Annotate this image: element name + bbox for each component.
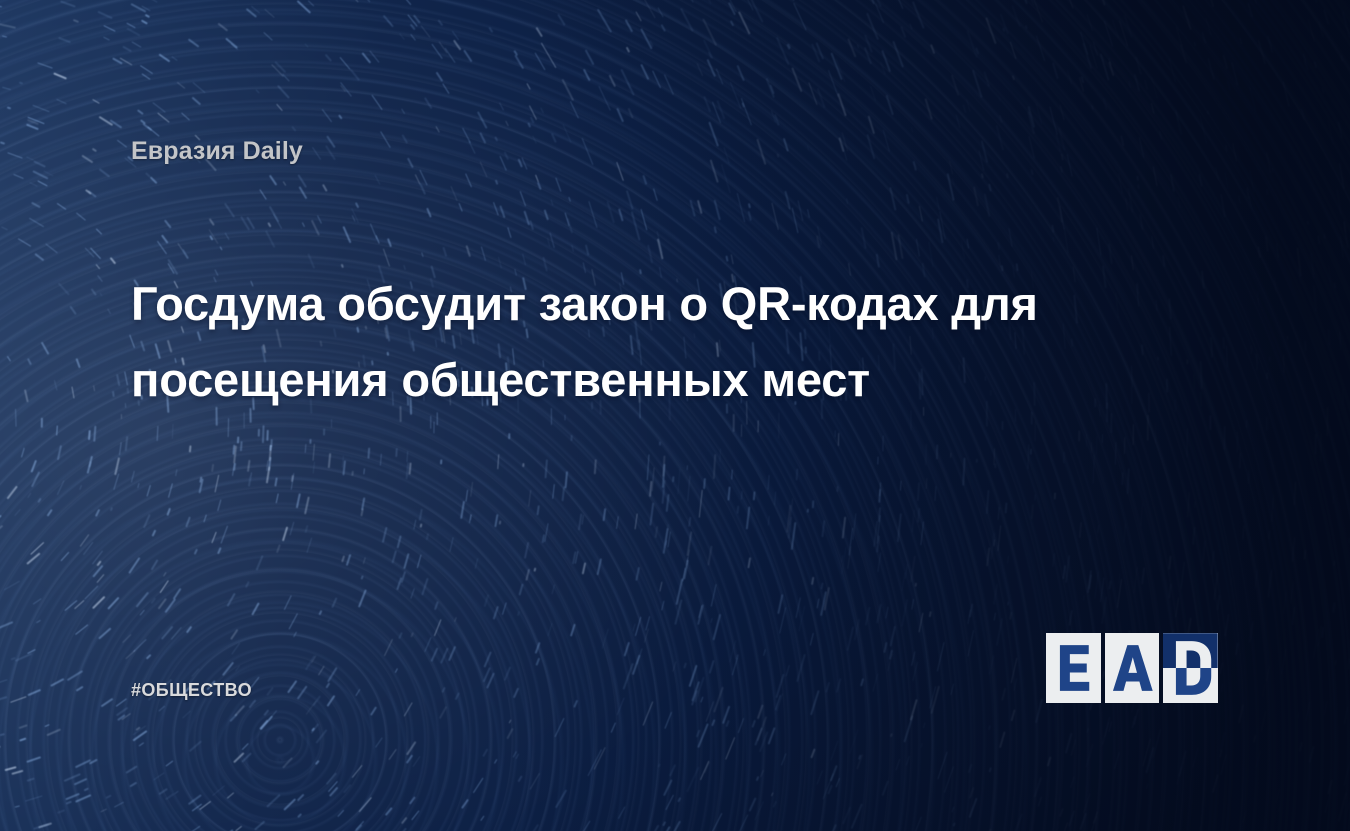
page-title: Госдума обсудит закон о QR-кодах для пос… <box>131 266 1221 418</box>
logo-tile-e <box>1046 633 1101 703</box>
eadaily-logo[interactable] <box>1046 633 1218 703</box>
logo-tile-a <box>1105 633 1160 703</box>
category-tag[interactable]: #ОБЩЕСТВО <box>131 680 252 701</box>
letter-e-icon <box>1046 633 1101 703</box>
brand-name: Евразия Daily <box>131 137 303 166</box>
letter-d-split-icon <box>1163 633 1218 703</box>
letter-a-icon <box>1105 633 1160 703</box>
logo-tile-d <box>1163 633 1218 703</box>
social-share-card: Евразия Daily Госдума обсудит закон о QR… <box>0 0 1350 831</box>
card-content: Евразия Daily Госдума обсудит закон о QR… <box>0 0 1350 831</box>
